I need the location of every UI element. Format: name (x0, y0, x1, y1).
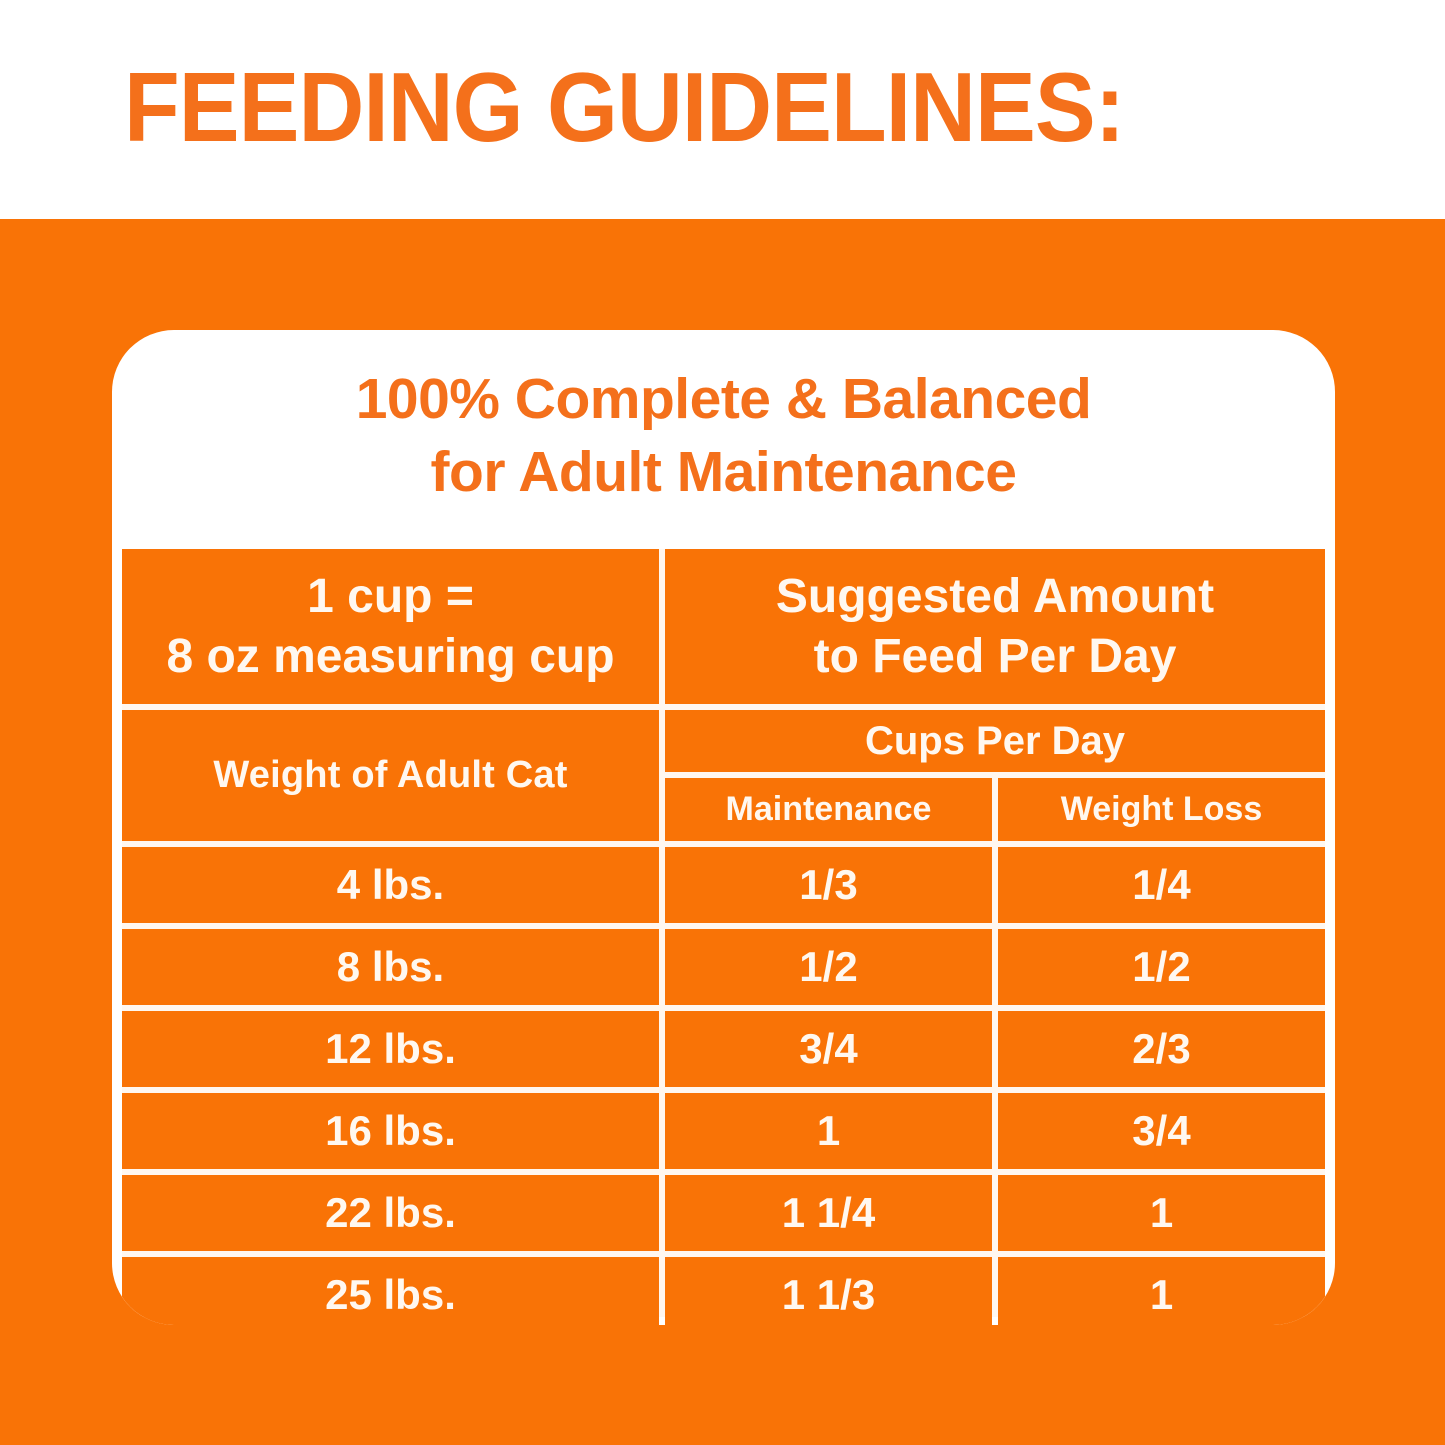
cell-weight: 8 lbs. (122, 929, 659, 1005)
table-row-headers: Weight of Adult Cat Cups Per Day Mainten… (122, 710, 1325, 841)
cell-maintenance: 3/4 (665, 1011, 992, 1087)
cell-maintenance: 1/3 (665, 847, 992, 923)
cell-maintenance: 1 (665, 1093, 992, 1169)
cup-definition-cell: 1 cup = 8 oz measuring cup (122, 549, 659, 704)
column-header-weight-loss: Weight Loss (998, 778, 1325, 841)
cell-weight-loss: 1/4 (998, 847, 1325, 923)
table-row: 16 lbs. 1 3/4 (122, 1093, 1325, 1169)
table-row: 22 lbs. 1 1/4 1 (122, 1175, 1325, 1251)
cell-weight-loss: 1 (998, 1257, 1325, 1325)
cell-weight: 12 lbs. (122, 1011, 659, 1087)
column-header-maintenance: Maintenance (665, 778, 992, 841)
cell-weight-loss: 1 (998, 1175, 1325, 1251)
cell-weight: 22 lbs. (122, 1175, 659, 1251)
table-row: 8 lbs. 1/2 1/2 (122, 929, 1325, 1005)
card-heading: 100% Complete & Balanced for Adult Maint… (112, 330, 1335, 509)
feeding-guidelines-card: 100% Complete & Balanced for Adult Maint… (112, 330, 1335, 1325)
cell-weight: 4 lbs. (122, 847, 659, 923)
table-row-summary: 1 cup = 8 oz measuring cup Suggested Amo… (122, 549, 1325, 704)
feeding-guidelines-page: FEEDING GUIDELINES: 100% Complete & Bala… (0, 0, 1445, 1445)
column-subheaders: Maintenance Weight Loss (665, 778, 1325, 841)
card-heading-line-1: 100% Complete & Balanced (112, 363, 1335, 436)
suggested-amount-cell: Suggested Amount to Feed Per Day (665, 549, 1325, 704)
table-row: 25 lbs. 1 1/3 1 (122, 1257, 1325, 1325)
table-row: 4 lbs. 1/3 1/4 (122, 847, 1325, 923)
feeding-table: 1 cup = 8 oz measuring cup Suggested Amo… (122, 549, 1325, 1317)
cell-weight-loss: 1/2 (998, 929, 1325, 1005)
cell-maintenance: 1 1/3 (665, 1257, 992, 1325)
cell-weight-loss: 2/3 (998, 1011, 1325, 1087)
cup-definition-line-1: 1 cup = (166, 567, 614, 627)
column-header-group: Cups Per Day Maintenance Weight Loss (665, 710, 1325, 841)
suggested-amount-line-1: Suggested Amount (776, 567, 1214, 627)
title-band: FEEDING GUIDELINES: (0, 0, 1445, 219)
table-row: 12 lbs. 3/4 2/3 (122, 1011, 1325, 1087)
cell-weight-loss: 3/4 (998, 1093, 1325, 1169)
cup-definition-line-2: 8 oz measuring cup (166, 627, 614, 687)
cell-maintenance: 1/2 (665, 929, 992, 1005)
page-title: FEEDING GUIDELINES: (124, 58, 1124, 156)
cell-weight: 16 lbs. (122, 1093, 659, 1169)
cell-weight: 25 lbs. (122, 1257, 659, 1325)
cell-maintenance: 1 1/4 (665, 1175, 992, 1251)
suggested-amount-line-2: to Feed Per Day (776, 627, 1214, 687)
column-header-cups-per-day: Cups Per Day (665, 710, 1325, 772)
card-heading-line-2: for Adult Maintenance (112, 436, 1335, 509)
column-header-weight: Weight of Adult Cat (122, 710, 659, 841)
